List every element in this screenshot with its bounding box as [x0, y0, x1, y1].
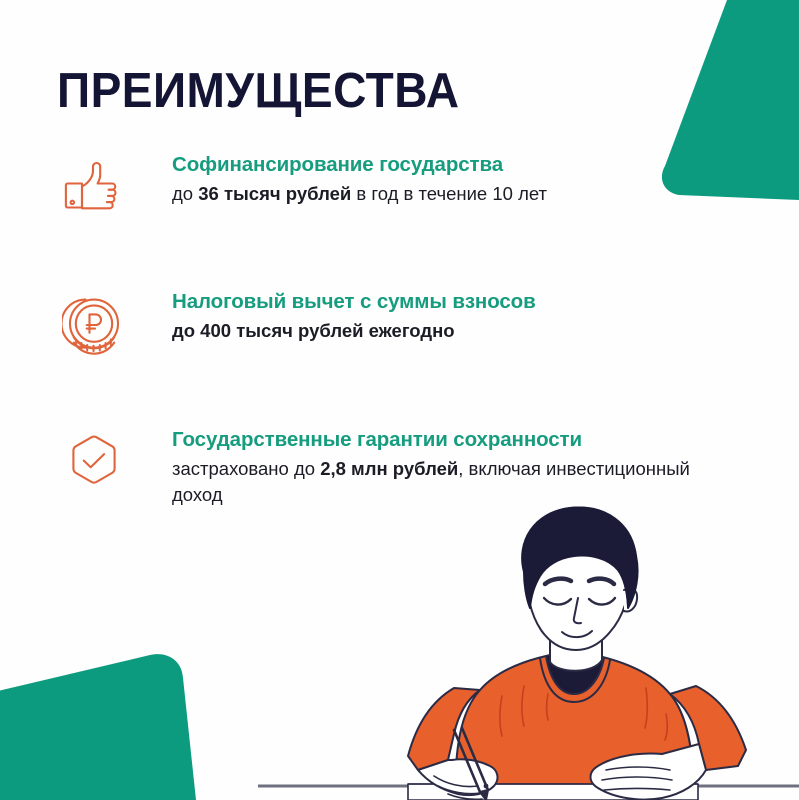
desc-bold: 36 тысяч рублей [198, 183, 351, 204]
desc-pre: до [172, 183, 198, 204]
benefit-item: Софинансирование государства до 36 тысяч… [62, 150, 702, 218]
benefit-text: Государственные гарантии сохранности зас… [172, 425, 702, 508]
benefit-heading: Государственные гарантии сохранности [172, 427, 702, 454]
desc-post: в год в течение 10 лет [351, 183, 547, 204]
benefit-text: Налоговый вычет с суммы взносов до 400 т… [172, 287, 702, 344]
desc-bold: до 400 тысяч рублей ежегодно [172, 320, 455, 341]
benefit-description: до 400 тысяч рублей ежегодно [172, 318, 692, 344]
benefit-heading: Софинансирование государства [172, 152, 702, 179]
thumbs-up-icon [62, 156, 124, 218]
hexagon-check-icon [62, 431, 124, 493]
ruble-coin-icon [62, 293, 124, 355]
benefit-heading: Налоговый вычет с суммы взносов [172, 289, 702, 316]
benefit-text: Софинансирование государства до 36 тысяч… [172, 150, 702, 207]
benefit-description: до 36 тысяч рублей в год в течение 10 ле… [172, 181, 692, 207]
desc-pre: застраховано до [172, 458, 320, 479]
page-title: ПРЕИМУЩЕСТВА [57, 67, 459, 116]
bottom-left-green-shape [0, 640, 220, 800]
benefit-item: Налоговый вычет с суммы взносов до 400 т… [62, 287, 702, 355]
man-writing-at-desk-illustration [258, 498, 799, 800]
desc-bold: 2,8 млн рублей [320, 458, 458, 479]
infographic-poster: ПРЕИМУЩЕСТВА С [0, 0, 799, 800]
benefit-item: Государственные гарантии сохранности зас… [62, 425, 702, 508]
